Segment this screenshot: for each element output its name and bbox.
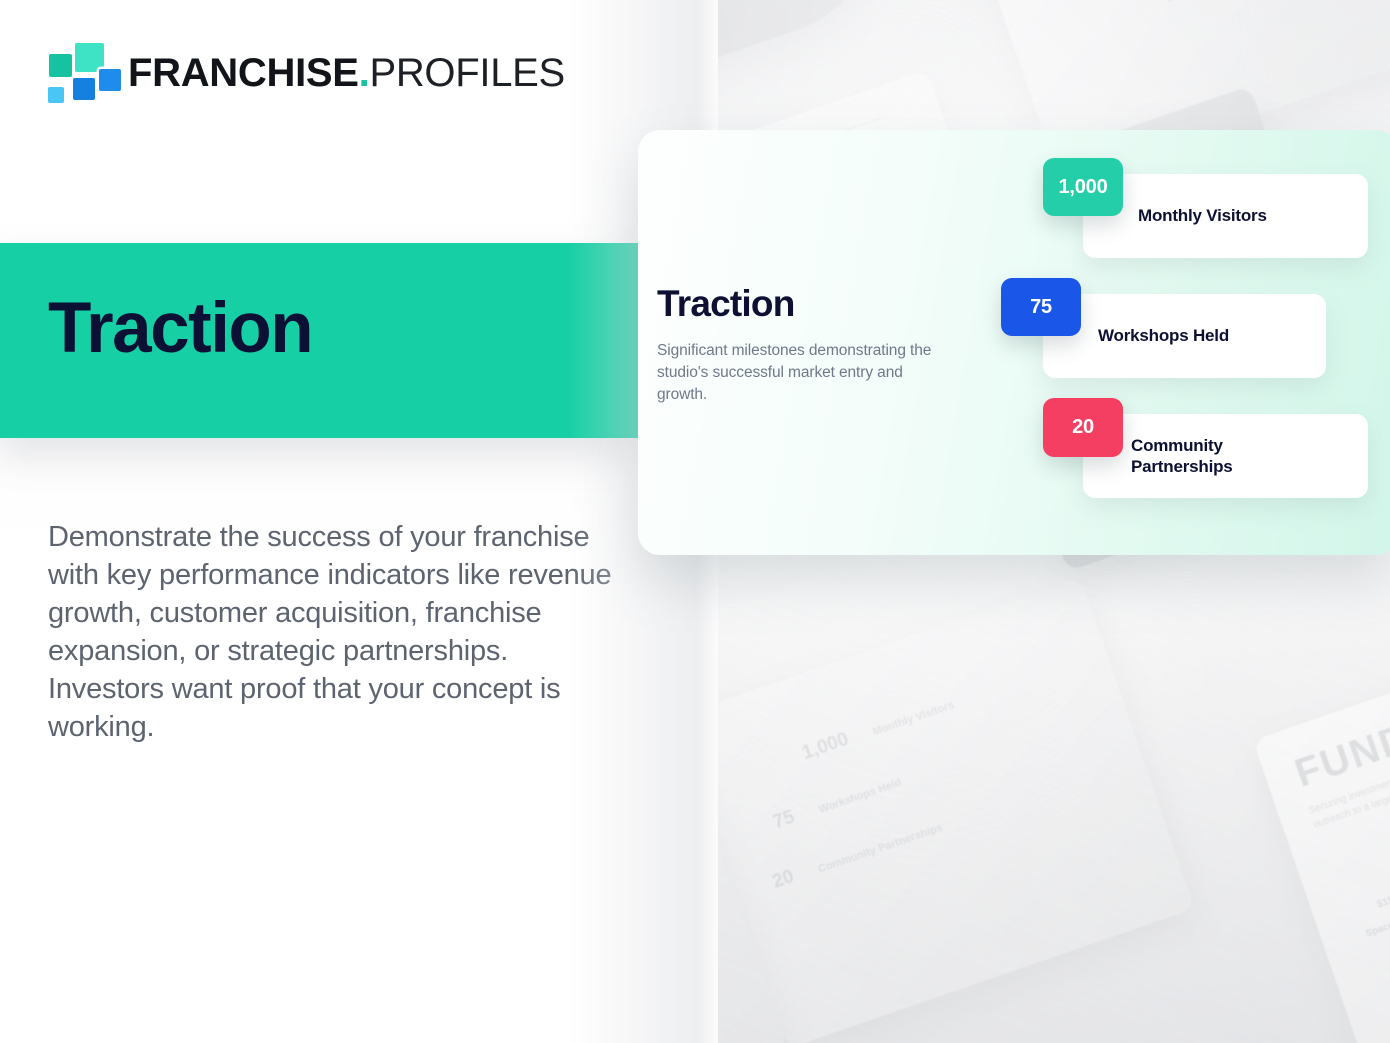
traction-kpi-label: Workshops Held (817, 776, 903, 816)
metric-card: Community Partnerships (1083, 414, 1368, 498)
brand-name-dot: . (359, 51, 370, 95)
brand-wordmark: FRANCHISE.PROFILES (128, 53, 565, 93)
metric-item[interactable]: Workshops Held 75 (988, 278, 1388, 378)
hero-band: Traction (0, 243, 638, 438)
metric-card: Monthly Visitors (1083, 174, 1368, 258)
brand-logo[interactable]: FRANCHISE.PROFILES (46, 42, 565, 104)
traction-kpi-label: Monthly Visitors (871, 699, 956, 738)
background-slide-traction: 1,000 Monthly Visitors 75 Workshops Held… (716, 578, 1195, 1043)
slide-canvas: Lack of Accessibility High Cost ⧗ Limite… (0, 0, 1390, 1043)
logo-square-teal-light (75, 43, 104, 72)
metric-value-badge: 20 (1043, 398, 1123, 457)
traction-kpi-value: 75 (770, 807, 797, 835)
traction-preview-card: Traction Significant milestones demonstr… (638, 130, 1390, 555)
problem-item-2: Limited Resources (1155, 0, 1263, 9)
metric-value-badge: 1,000 (1043, 158, 1123, 216)
logo-square-teal-dark (49, 54, 72, 77)
traction-kpi-row: 1,000 Monthly Visitors (799, 650, 1080, 765)
brand-name-light: PROFILES (369, 51, 564, 95)
hero-body-text: Demonstrate the success of your franchis… (48, 519, 628, 747)
logo-square-blue (73, 78, 95, 100)
traction-kpi-row: 75 Workshops Held (770, 703, 1099, 834)
metric-item[interactable]: Community Partnerships 20 (988, 398, 1388, 498)
metric-value-badge: 75 (1001, 278, 1081, 336)
fundraising-title: FUNDRAISING (1290, 622, 1390, 795)
background-slide-fundraising: FUNDRAISING Securing investment to scale… (1253, 587, 1390, 1043)
metric-item[interactable]: Monthly Visitors 1,000 (988, 158, 1388, 258)
traction-kpi-value: 20 (770, 866, 797, 894)
squares-logo-icon (46, 42, 106, 104)
page-title: Traction (48, 293, 312, 364)
metric-label: Community Partnerships (1131, 435, 1233, 478)
metric-card: Workshops Held (1043, 294, 1326, 378)
preview-card-title: Traction (657, 285, 977, 322)
metric-list: Monthly Visitors 1,000 Workshops Held 75… (988, 158, 1388, 518)
traction-kpi-label: Community Partnerships (817, 822, 945, 876)
traction-kpi-value: 1,000 (799, 729, 851, 765)
metric-label: Workshops Held (1098, 325, 1229, 346)
preview-card-text-block: Traction Significant milestones demonstr… (657, 285, 977, 406)
fundraising-amount-0: $150,000 (1334, 871, 1390, 926)
preview-card-description: Significant milestones demonstrating the… (657, 340, 957, 406)
logo-square-blue-light (99, 69, 121, 91)
left-content-panel: FRANCHISE.PROFILES Traction Demonstrate … (0, 0, 718, 1043)
brand-name-bold: FRANCHISE (128, 51, 359, 95)
metric-label: Monthly Visitors (1138, 205, 1267, 226)
logo-square-cyan (48, 87, 64, 103)
